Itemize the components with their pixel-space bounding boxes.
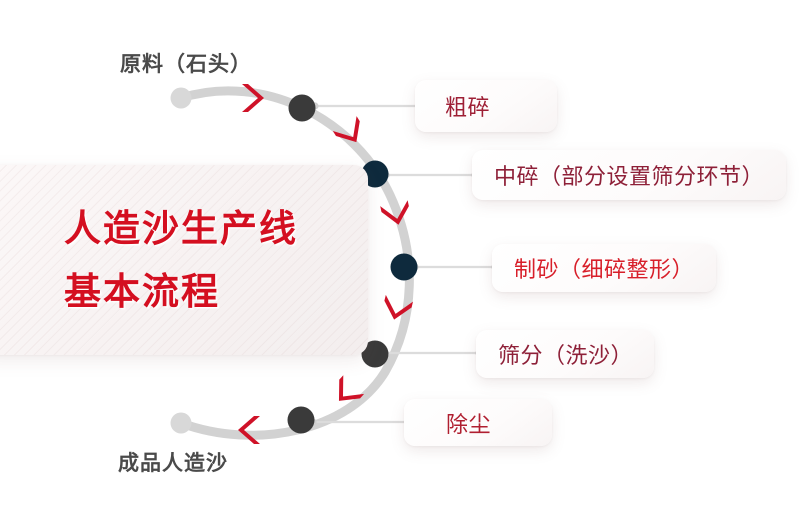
flow-node-step-3[interactable] [391,254,418,281]
start-label: 原料（石头） [120,48,252,78]
step-card-1[interactable]: 粗碎 [415,80,557,132]
end-endpoint-dot [171,413,192,434]
flow-node-step-5[interactable] [288,407,315,434]
title-line-2: 基本流程 [64,273,368,310]
step-card-4[interactable]: 筛分（洗沙） [476,330,654,378]
step-label-3: 制砂（细碎整形） [514,252,694,284]
title-line-1: 人造沙生产线 [64,210,368,247]
end-label: 成品人造沙 [118,447,228,477]
step-card-3[interactable]: 制砂（细碎整形） [492,244,716,292]
arrow-end [238,416,260,444]
flow-node-step-1[interactable] [289,95,316,122]
infographic-canvas: 人造沙生产线 基本流程 原料（石头） 成品人造沙 粗碎 中碎（部分设置筛分环节）… [0,0,800,530]
step-label-2: 中碎（部分设置筛分环节） [494,159,764,191]
step-label-4: 筛分（洗沙） [498,338,633,370]
step-label-1: 粗碎 [445,90,490,122]
start-endpoint-dot [171,88,192,109]
step-card-5[interactable]: 除尘 [404,399,552,446]
title-card: 人造沙生产线 基本流程 [0,165,368,355]
step-card-2[interactable]: 中碎（部分设置筛分环节） [472,150,786,200]
step-label-5: 除尘 [446,407,491,439]
